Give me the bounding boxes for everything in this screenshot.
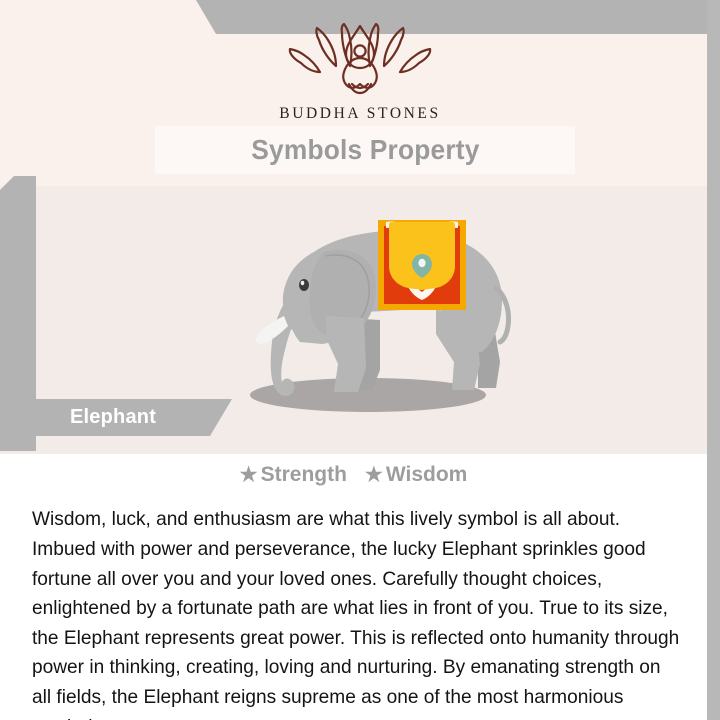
keyword-strength-label: Strength <box>261 463 347 486</box>
page-title-strip: Symbols Property <box>155 126 575 174</box>
symbol-name: Elephant <box>70 406 156 429</box>
star-icon: ★ <box>240 464 258 486</box>
symbols-property-card: BUDDHA STONES Symbols Property <box>0 0 720 720</box>
brand-logo: BUDDHA STONES <box>0 22 720 123</box>
keyword-wisdom-label: Wisdom <box>386 463 467 486</box>
elephant-illustration <box>196 192 536 420</box>
elephant-eye <box>299 279 309 291</box>
lotus-meditation-icon <box>286 22 434 96</box>
keyword-wisdom: ★Wisdom <box>365 462 467 487</box>
page-title: Symbols Property <box>251 134 479 166</box>
brand-name: BUDDHA STONES <box>0 105 720 123</box>
symbol-description: Wisdom, luck, and enthusiasm are what th… <box>32 505 680 720</box>
symbol-name-banner: Elephant <box>0 399 232 436</box>
keyword-strength: ★Strength <box>240 462 347 487</box>
keyword-row: ★Strength★Wisdom <box>0 462 707 487</box>
star-icon: ★ <box>365 464 383 486</box>
